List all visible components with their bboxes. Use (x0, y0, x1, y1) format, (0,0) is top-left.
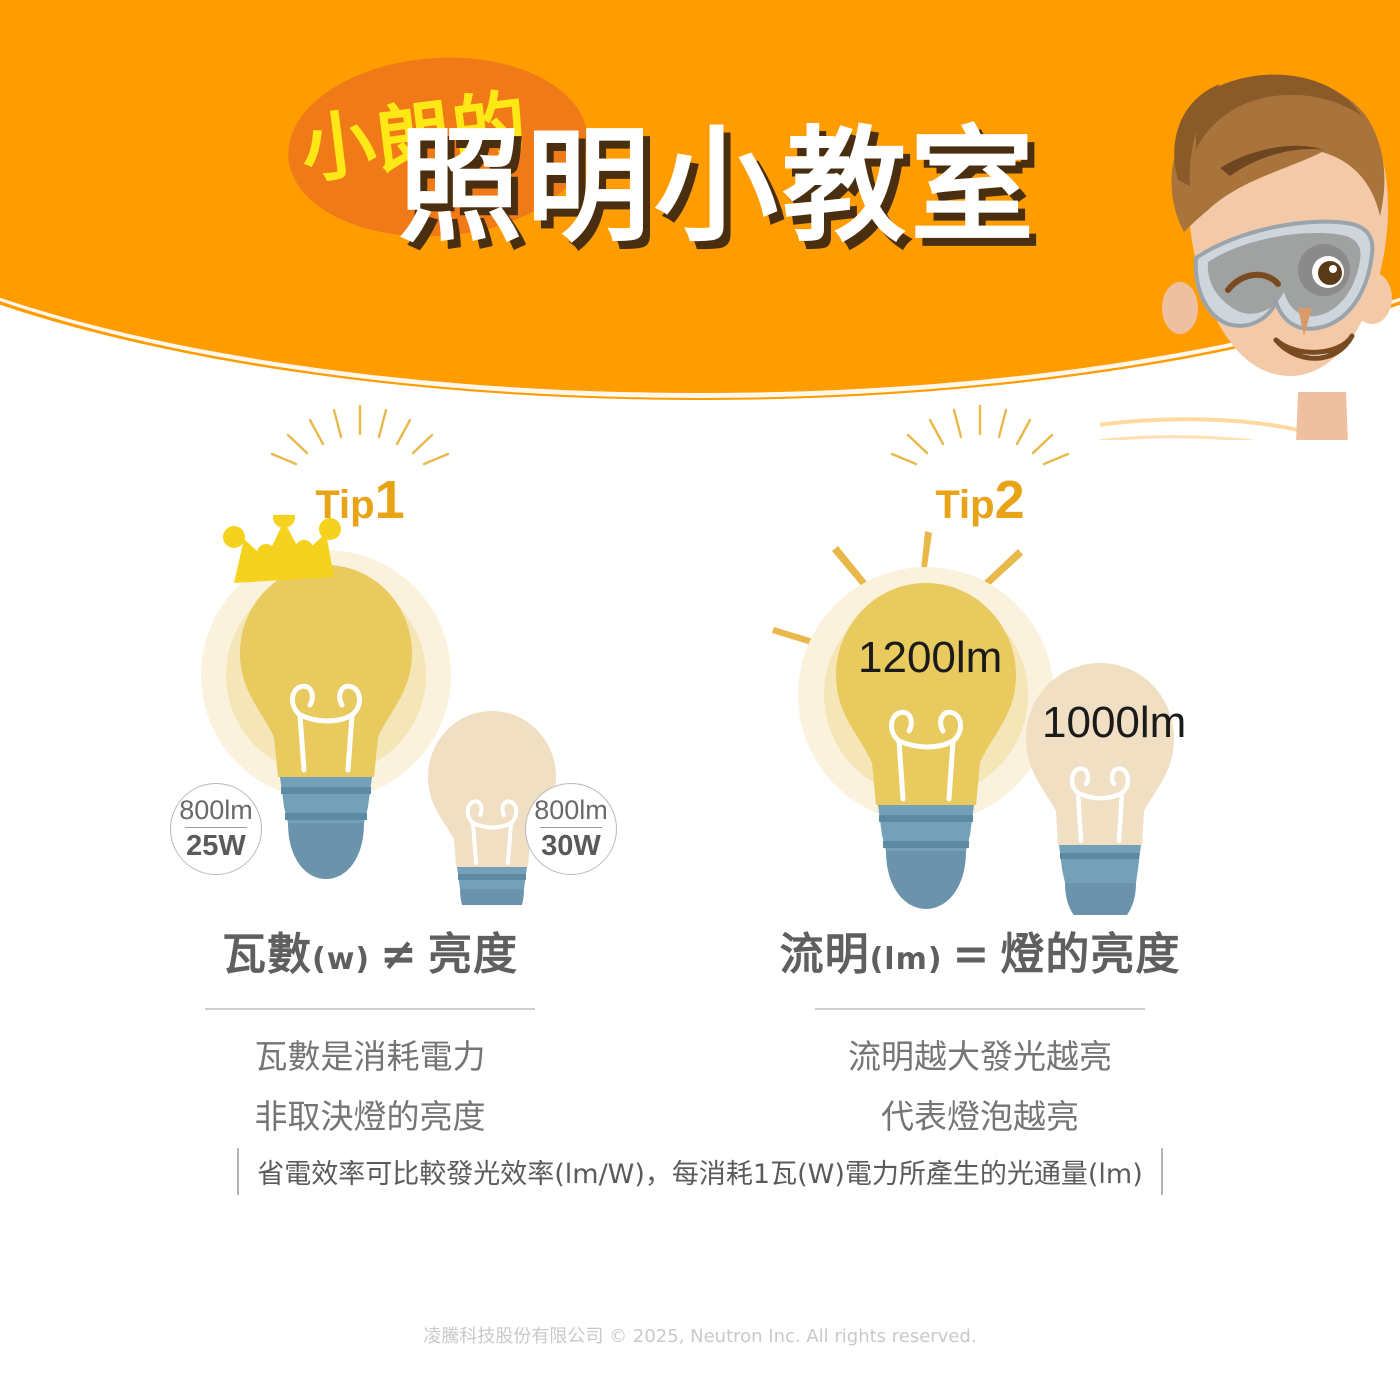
tip-1-desc-line-2: 非取決燈的亮度 (90, 1092, 650, 1142)
lumen-label-1200: 1200lm (858, 633, 1002, 683)
tip-1-bulb-group: 800lm 25W 800lm 30W (150, 515, 650, 905)
badge-800lm-25w: 800lm 25W (170, 783, 262, 875)
mascot-head (1162, 75, 1392, 376)
badge-lumens: 800lm (534, 797, 608, 827)
caption-divider (205, 1008, 535, 1010)
mascot-illustration (1100, 40, 1400, 440)
page-title: 照明小教室 (398, 122, 1038, 252)
crown-icon (223, 515, 341, 583)
tip-2-caption: 流明(lm)=燈的亮度 流明越大發光越亮 代表燈泡越亮 (700, 918, 1260, 1151)
badge-800lm-30w: 800lm 30W (525, 783, 617, 875)
footnote-text: 省電效率可比較發光效率(lm/W)，每消耗1瓦(W)電力所產生的光通量(lm) (237, 1148, 1162, 1195)
tip-1-rays-icon (210, 400, 510, 470)
tip-1-formula: 瓦數(w)≠亮度 (90, 918, 650, 982)
tip-2-rays-icon (830, 400, 1130, 470)
infographic-page: 小朗的 照明小教室 (0, 0, 1400, 1400)
tip-1-header: Tip1 (210, 400, 510, 531)
tip-2-bulb-group: 1200lm 1000lm (770, 515, 1230, 915)
tip-2-header: Tip2 (830, 400, 1130, 531)
tip-1-desc-line-1: 瓦數是消耗電力 (90, 1032, 650, 1082)
footnote: 省電效率可比較發光效率(lm/W)，每消耗1瓦(W)電力所產生的光通量(lm) (0, 1148, 1400, 1195)
lumen-label-1000: 1000lm (1042, 698, 1186, 748)
badge-lumens: 800lm (179, 797, 253, 827)
tip-1-caption: 瓦數(w)≠亮度 瓦數是消耗電力 非取決燈的亮度 (90, 918, 650, 1151)
header-banner: 小朗的 照明小教室 (0, 0, 1400, 440)
caption-divider (815, 1008, 1145, 1010)
tip-2-formula: 流明(lm)=燈的亮度 (700, 918, 1260, 982)
tip-2-desc-line-2: 代表燈泡越亮 (700, 1092, 1260, 1142)
badge-watts: 25W (186, 828, 246, 861)
badge-watts: 30W (541, 828, 601, 861)
tip-2-desc-line-1: 流明越大發光越亮 (700, 1032, 1260, 1082)
copyright-footer: 凌騰科技股份有限公司 © 2025, Neutron Inc. All righ… (0, 1322, 1400, 1348)
